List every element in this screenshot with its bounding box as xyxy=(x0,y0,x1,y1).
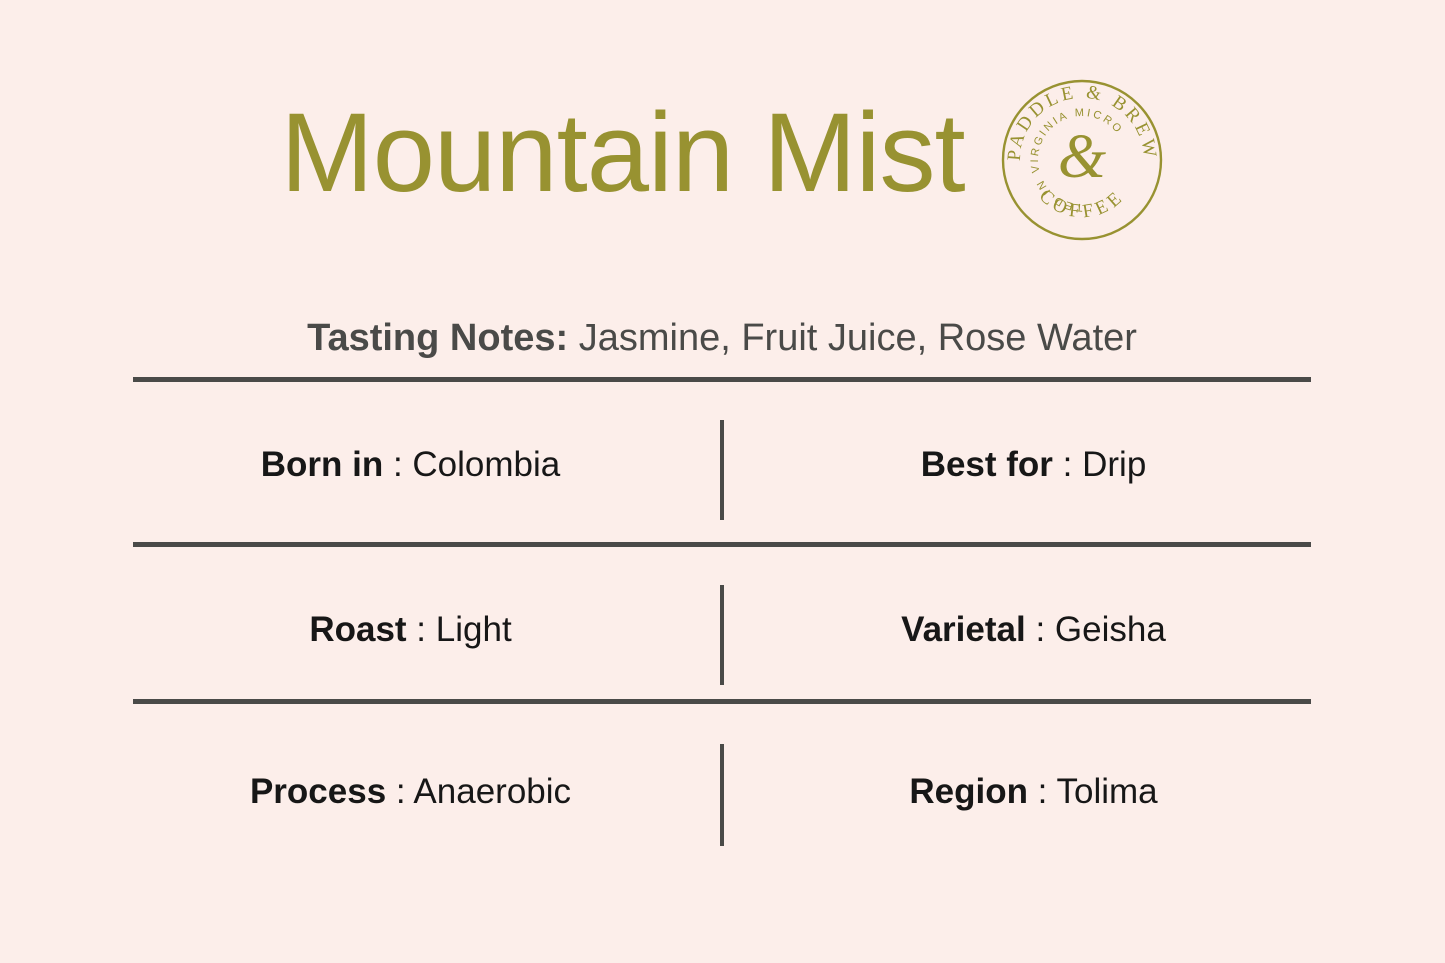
column-divider xyxy=(720,744,724,846)
page-title: Mountain Mist xyxy=(280,97,964,209)
spec-text: Varietal : Geisha xyxy=(901,610,1166,650)
spec-text: Roast : Light xyxy=(309,610,511,650)
spec-value: Anaerobic xyxy=(413,772,571,811)
spec-value: Light xyxy=(436,610,512,649)
spec-label: Varietal xyxy=(901,610,1026,649)
spec-text: Region : Tolima xyxy=(909,772,1157,812)
label-header: Mountain Mist PADDLE & BREW COFFEE ROAST… xyxy=(0,58,1445,248)
spec-separator: : xyxy=(1026,610,1055,649)
column-divider xyxy=(720,585,724,685)
tasting-notes-value: Jasmine, Fruit Juice, Rose Water xyxy=(568,317,1137,359)
coffee-label-card: Mountain Mist PADDLE & BREW COFFEE ROAST… xyxy=(0,0,1445,963)
spec-cell-born-in: Born in : Colombia xyxy=(133,445,722,485)
spec-cell-region: Region : Tolima xyxy=(722,772,1311,812)
spec-table: Born in : Colombia Best for : Drip Roast… xyxy=(133,382,1311,872)
spec-cell-roast: Roast : Light xyxy=(133,610,722,650)
paddle-and-brew-coffee-icon: PADDLE & BREW COFFEE ROASTED IN VIRGINIA… xyxy=(999,77,1165,243)
spec-label: Born in xyxy=(261,445,383,484)
spec-separator: : xyxy=(386,772,413,811)
spec-cell-best-for: Best for : Drip xyxy=(722,445,1311,485)
spec-label: Best for xyxy=(921,445,1053,484)
spec-separator: : xyxy=(407,610,436,649)
spec-text: Born in : Colombia xyxy=(261,445,561,485)
column-divider xyxy=(720,420,724,520)
spec-label: Roast xyxy=(309,610,406,649)
spec-cell-process: Process : Anaerobic xyxy=(133,772,722,812)
badge-ampersand-glyph: & xyxy=(1057,123,1105,191)
spec-label: Region xyxy=(909,772,1028,811)
spec-value: Tolima xyxy=(1057,772,1158,811)
table-row: Process : Anaerobic Region : Tolima xyxy=(133,712,1311,872)
spec-text: Best for : Drip xyxy=(921,445,1147,485)
spec-value: Geisha xyxy=(1055,610,1166,649)
spec-separator: : xyxy=(1028,772,1057,811)
spec-value: Colombia xyxy=(412,445,560,484)
spec-value: Drip xyxy=(1082,445,1146,484)
tasting-notes-row: Tasting Notes: Jasmine, Fruit Juice, Ros… xyxy=(133,306,1311,370)
table-row: Born in : Colombia Best for : Drip xyxy=(133,382,1311,547)
tasting-notes-label: Tasting Notes: xyxy=(307,317,568,359)
brand-logo-badge: PADDLE & BREW COFFEE ROASTED IN VIRGINIA… xyxy=(999,77,1165,243)
tasting-notes-text: Tasting Notes: Jasmine, Fruit Juice, Ros… xyxy=(307,317,1137,360)
spec-separator: : xyxy=(1053,445,1082,484)
table-row: Roast : Light Varietal : Geisha xyxy=(133,547,1311,712)
spec-cell-varietal: Varietal : Geisha xyxy=(722,610,1311,650)
spec-label: Process xyxy=(250,772,386,811)
spec-separator: : xyxy=(383,445,412,484)
spec-text: Process : Anaerobic xyxy=(250,772,571,812)
